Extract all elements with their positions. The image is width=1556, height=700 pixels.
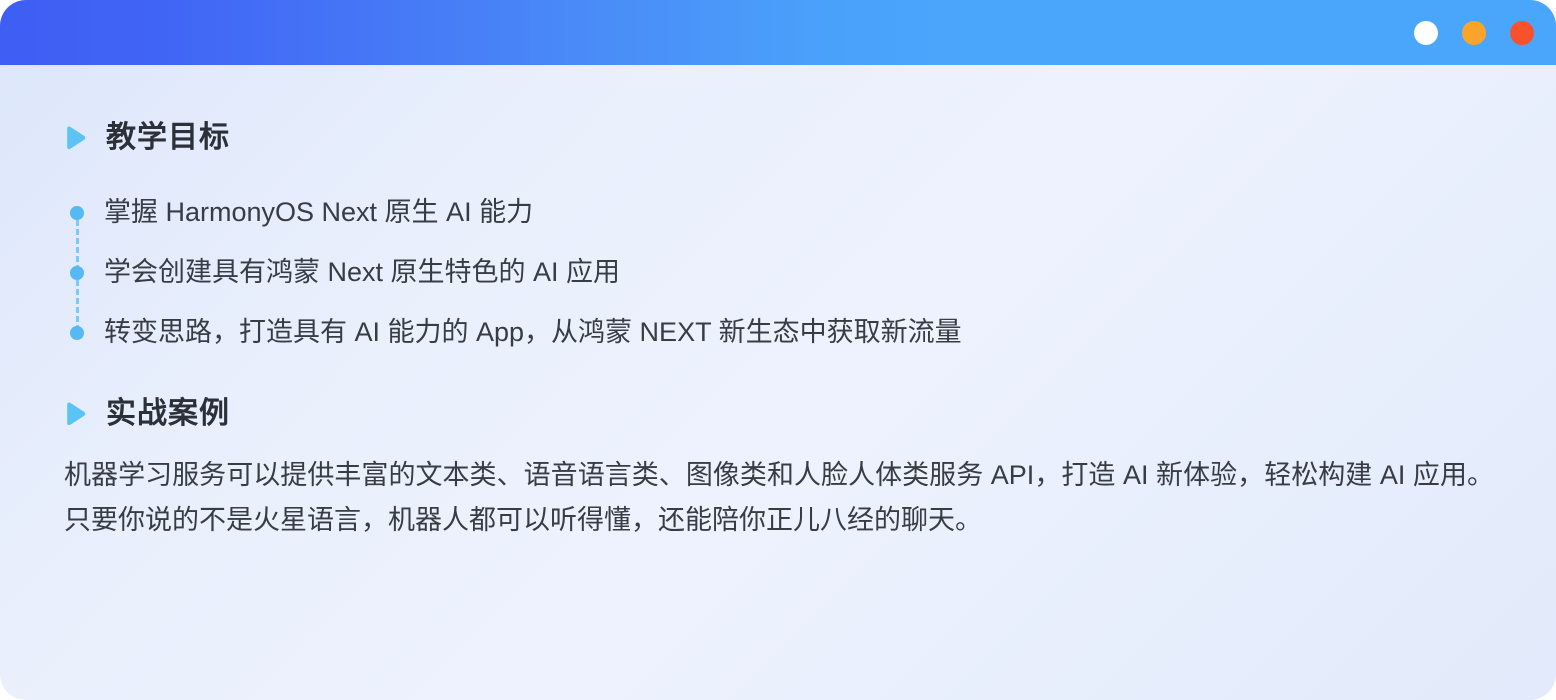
minimize-button[interactable] — [1414, 21, 1438, 45]
section-title: 实战案例 — [106, 399, 230, 429]
bullet-dot-icon — [70, 266, 84, 280]
bullet-dot-icon — [70, 206, 84, 220]
objectives-list: 掌握 HarmonyOS Next 原生 AI 能力 学会创建具有鸿蒙 Next… — [62, 183, 1494, 363]
window-titlebar — [0, 0, 1556, 65]
bullet-dot-icon — [70, 326, 84, 340]
play-triangle-icon — [62, 401, 88, 427]
close-button[interactable] — [1510, 21, 1534, 45]
case-paragraph: 机器学习服务可以提供丰富的文本类、语音语言类、图像类和人脸人体类服务 API，打… — [64, 453, 1494, 542]
maximize-button[interactable] — [1462, 21, 1486, 45]
list-item: 转变思路，打造具有 AI 能力的 App，从鸿蒙 NEXT 新生态中获取新流量 — [62, 303, 1494, 363]
play-triangle-icon — [62, 125, 88, 151]
objective-text: 转变思路，打造具有 AI 能力的 App，从鸿蒙 NEXT 新生态中获取新流量 — [104, 315, 962, 350]
bullet-connector-line — [76, 211, 79, 271]
slide-window: 教学目标 掌握 HarmonyOS Next 原生 AI 能力 学会创建具有鸿蒙… — [0, 0, 1556, 700]
section-title: 教学目标 — [106, 123, 230, 153]
section-header-practical-case: 实战案例 — [62, 399, 1494, 429]
list-item: 学会创建具有鸿蒙 Next 原生特色的 AI 应用 — [62, 243, 1494, 303]
objective-text: 掌握 HarmonyOS Next 原生 AI 能力 — [104, 195, 533, 230]
window-controls — [1414, 0, 1534, 65]
section-header-teaching-objectives: 教学目标 — [62, 123, 1494, 153]
bullet-connector-line — [76, 271, 79, 331]
slide-content: 教学目标 掌握 HarmonyOS Next 原生 AI 能力 学会创建具有鸿蒙… — [0, 65, 1556, 700]
list-item: 掌握 HarmonyOS Next 原生 AI 能力 — [62, 183, 1494, 243]
objective-text: 学会创建具有鸿蒙 Next 原生特色的 AI 应用 — [104, 255, 620, 290]
